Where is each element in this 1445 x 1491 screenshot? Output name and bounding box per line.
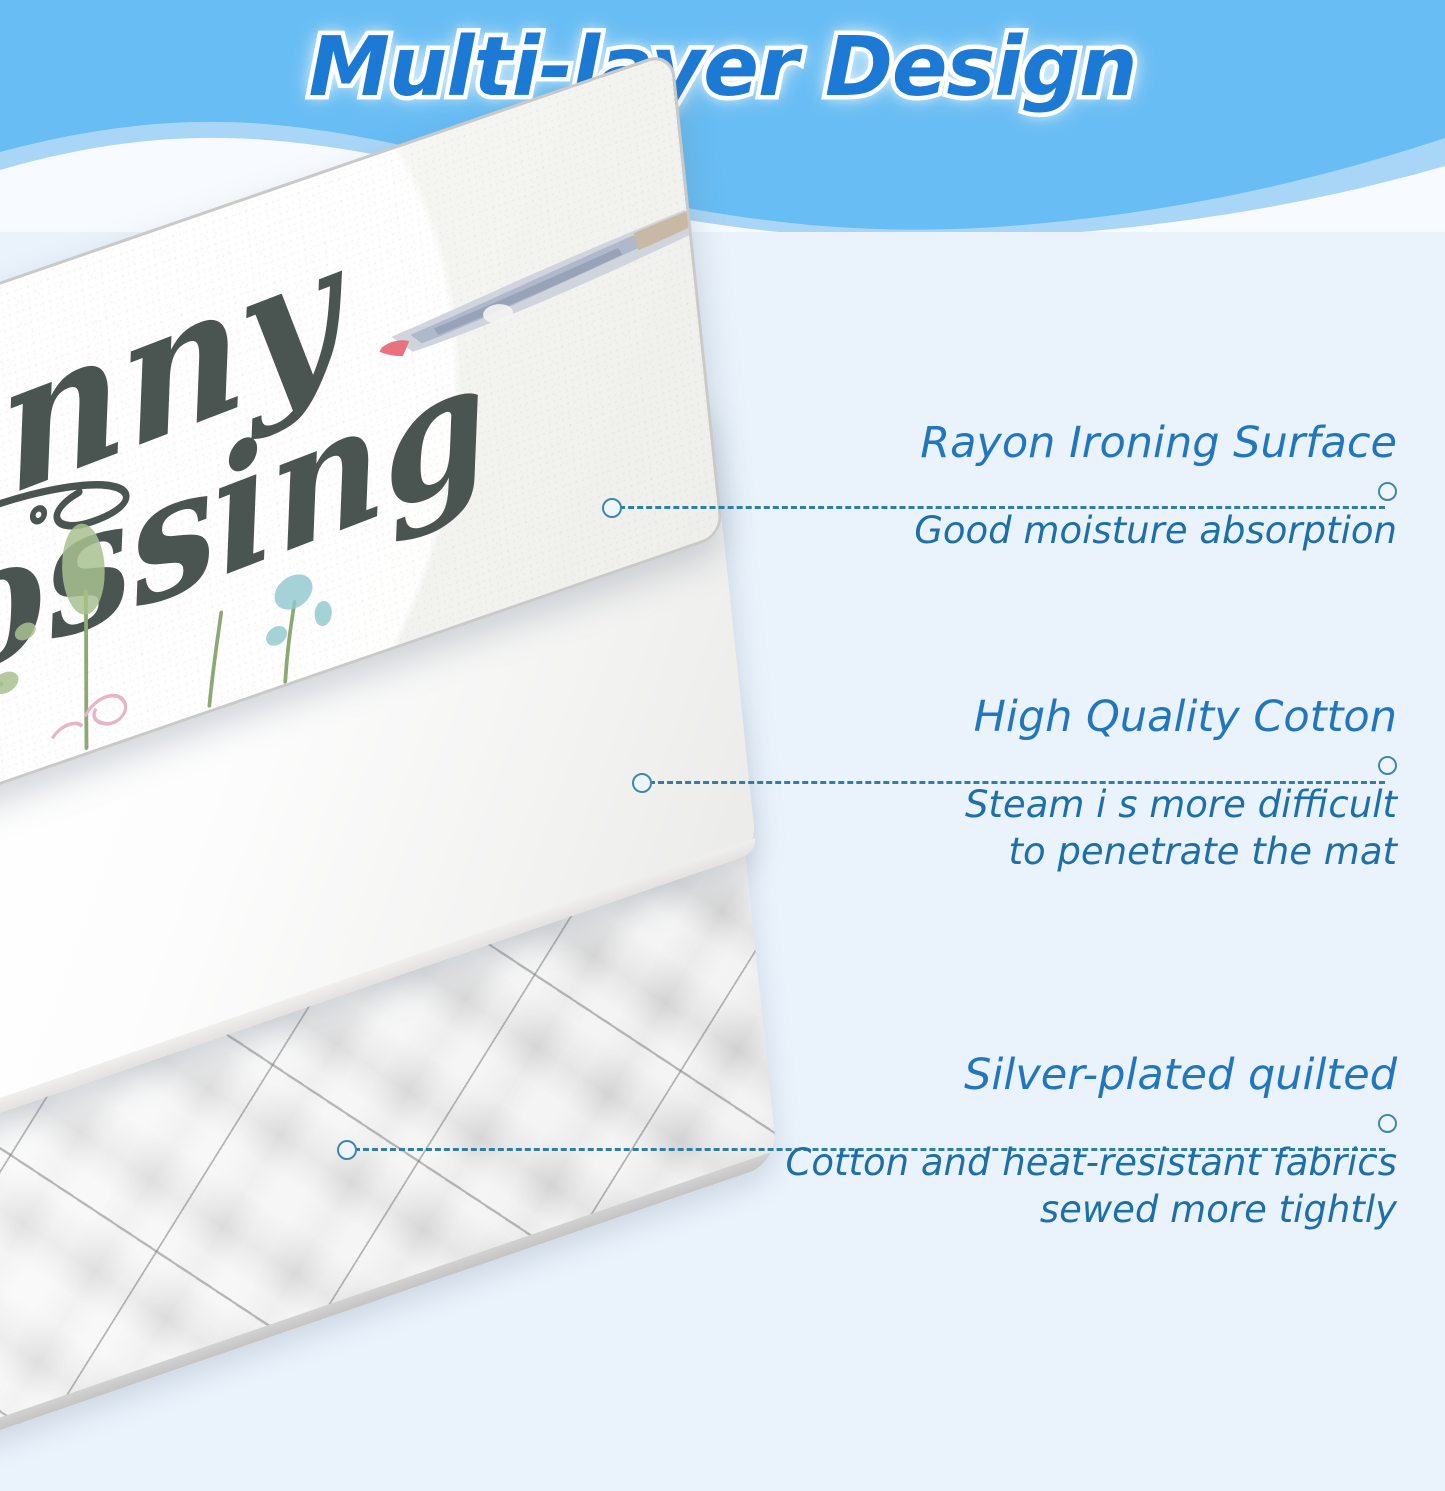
callout-rule-cotton (757, 755, 1397, 771)
connector-origin-dot-3 (337, 1140, 357, 1160)
callout-rule-quilted (757, 1113, 1397, 1129)
bunny-illustration (378, 200, 714, 363)
callout-end-dot-rayon (1378, 482, 1397, 501)
callout-title-cotton: High Quality Cotton (757, 692, 1397, 743)
callout-end-dot-quilted (1378, 1114, 1397, 1133)
connector-origin-dot-2 (632, 773, 652, 793)
callout-subtitle-quilted: Cotton and heat-resistant fabrics sewed … (757, 1139, 1397, 1234)
callout-cotton: High Quality Cotton Steam i s more diffi… (757, 692, 1397, 875)
callout-title-rayon: Rayon Ironing Surface (757, 418, 1397, 469)
callout-rule-rayon (757, 481, 1397, 497)
callout-rayon: Rayon Ironing Surface Good moisture abso… (757, 418, 1397, 554)
header-banner: Multi-layer Design (0, 0, 1445, 232)
callout-end-dot-cotton (1378, 756, 1397, 775)
page-title: Multi-layer Design (0, 20, 1445, 115)
callout-quilted: Silver-plated quilted Cotton and heat-re… (757, 1050, 1397, 1233)
callout-subtitle-cotton: Steam i s more difficult to penetrate th… (757, 781, 1397, 876)
product-layer-stack: Bunny Crossing (0, 232, 830, 1445)
callout-title-quilted: Silver-plated quilted (757, 1050, 1397, 1101)
callout-subtitle-rayon: Good moisture absorption (757, 507, 1397, 554)
connector-origin-dot-1 (602, 498, 622, 518)
